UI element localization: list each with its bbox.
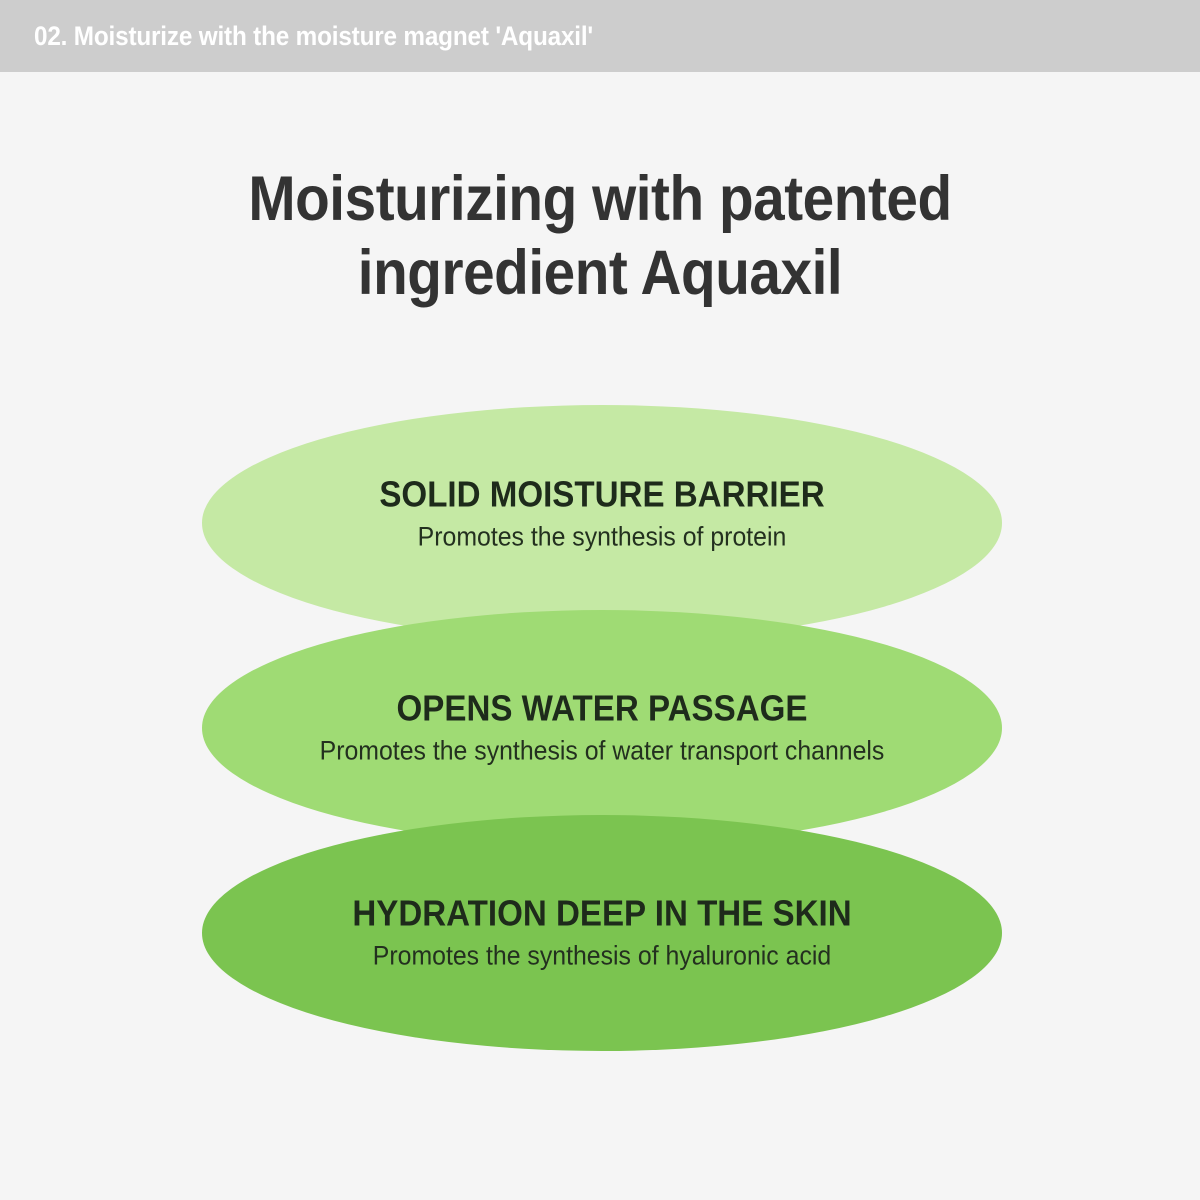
benefit-ellipse-stack: SOLID MOISTURE BARRIER Promotes the synt… <box>0 0 1200 1200</box>
benefit-heading: SOLID MOISTURE BARRIER <box>234 473 970 515</box>
benefit-heading: OPENS WATER PASSAGE <box>234 688 970 730</box>
benefit-ellipse-text-block: OPENS WATER PASSAGE Promotes the synthes… <box>202 688 1002 769</box>
benefit-ellipse-text-block: HYDRATION DEEP IN THE SKIN Promotes the … <box>202 893 1002 974</box>
benefit-ellipse-solid-moisture-barrier: SOLID MOISTURE BARRIER Promotes the synt… <box>202 405 1002 641</box>
benefit-subtext: Promotes the synthesis of hyaluronic aci… <box>234 938 970 974</box>
benefit-ellipse-opens-water-passage: OPENS WATER PASSAGE Promotes the synthes… <box>202 610 1002 846</box>
benefit-subtext: Promotes the synthesis of protein <box>234 518 970 554</box>
benefit-heading: HYDRATION DEEP IN THE SKIN <box>234 893 970 935</box>
benefit-subtext: Promotes the synthesis of water transpor… <box>234 733 970 769</box>
benefit-ellipse-text-block: SOLID MOISTURE BARRIER Promotes the synt… <box>202 473 1002 554</box>
benefit-ellipse-hydration-deep-in-the-skin: HYDRATION DEEP IN THE SKIN Promotes the … <box>202 815 1002 1051</box>
